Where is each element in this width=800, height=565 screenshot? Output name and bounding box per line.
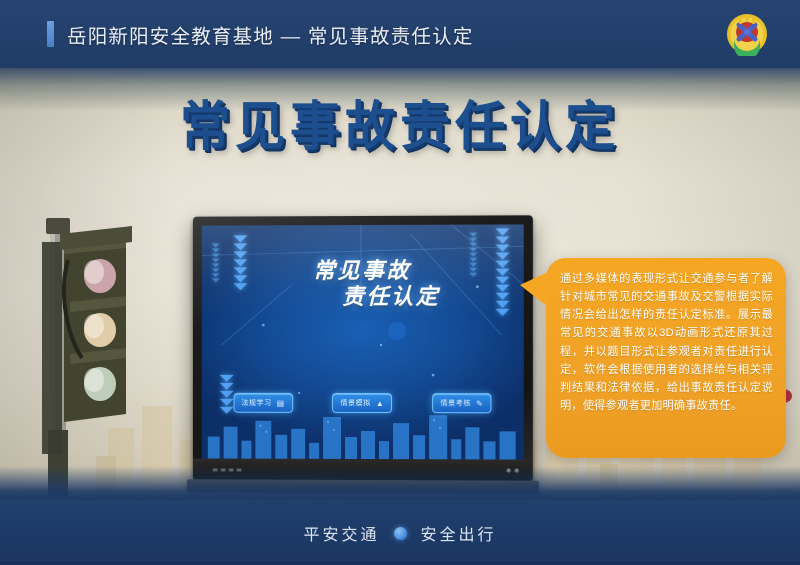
clipboard-icon: ✎ bbox=[476, 399, 483, 408]
page-footer: 平安交通 安全出行 bbox=[0, 500, 800, 565]
book-icon: ▤ bbox=[277, 398, 285, 407]
page-header: 岳阳新阳安全教育基地 — 常见事故责任认定 bbox=[0, 0, 800, 68]
screen-button-row: 法规学习 ▤ 情景模拟 ▲ 情景考核 ✎ bbox=[202, 393, 524, 414]
screen-button-regulations[interactable]: 法规学习 ▤ bbox=[234, 393, 293, 413]
footer-right-text: 安全出行 bbox=[421, 521, 497, 545]
chevron-column-right-far bbox=[469, 233, 477, 277]
footer-left-text: 平安交通 bbox=[303, 521, 379, 545]
callout-pointer bbox=[520, 272, 548, 307]
interactive-touch-display[interactable]: 常见事故 责任认定 法规学习 ▤ 情景模拟 ▲ 情景考核 ✎ bbox=[193, 215, 533, 481]
presentation-page: 常见事故责任认定 bbox=[0, 0, 800, 565]
screen-button-simulation[interactable]: 情景模拟 ▲ bbox=[332, 393, 392, 413]
police-emblem-logo bbox=[725, 12, 769, 56]
screen-button-assessment-label: 情景考核 bbox=[440, 398, 471, 408]
display-control-bar[interactable] bbox=[193, 458, 533, 481]
page-title: 岳阳新阳安全教育基地 — 常见事故责任认定 bbox=[67, 20, 474, 49]
wall-title: 常见事故责任认定 bbox=[0, 84, 800, 160]
footer-separator-dot bbox=[394, 527, 407, 540]
header-accent-bar bbox=[47, 21, 54, 47]
display-screen[interactable]: 常见事故 责任认定 法规学习 ▤ 情景模拟 ▲ 情景考核 ✎ bbox=[202, 224, 524, 459]
description-callout: 通过多媒体的表现形式让交通参与者了解针对城市常见的交通事故及交警根据实际情况会给… bbox=[546, 258, 786, 458]
callout-text: 通过多媒体的表现形式让交通参与者了解针对城市常见的交通事故及交警根据实际情况会给… bbox=[560, 270, 773, 415]
screen-skyline-graphic bbox=[202, 407, 524, 460]
display-stand bbox=[187, 479, 539, 494]
screen-button-simulation-label: 情景模拟 bbox=[340, 398, 370, 408]
chevron-column-right bbox=[495, 228, 509, 315]
traffic-light-fixture bbox=[38, 198, 153, 500]
screen-button-assessment[interactable]: 情景考核 ✎ bbox=[432, 393, 491, 413]
chevron-column-left-far bbox=[212, 243, 220, 282]
chevron-column-left bbox=[234, 235, 248, 290]
car-icon: ▲ bbox=[376, 399, 385, 408]
display-buttons-group[interactable] bbox=[213, 468, 242, 471]
screen-button-regulations-label: 法规学习 bbox=[241, 398, 271, 408]
display-indicator-lights bbox=[507, 469, 519, 473]
